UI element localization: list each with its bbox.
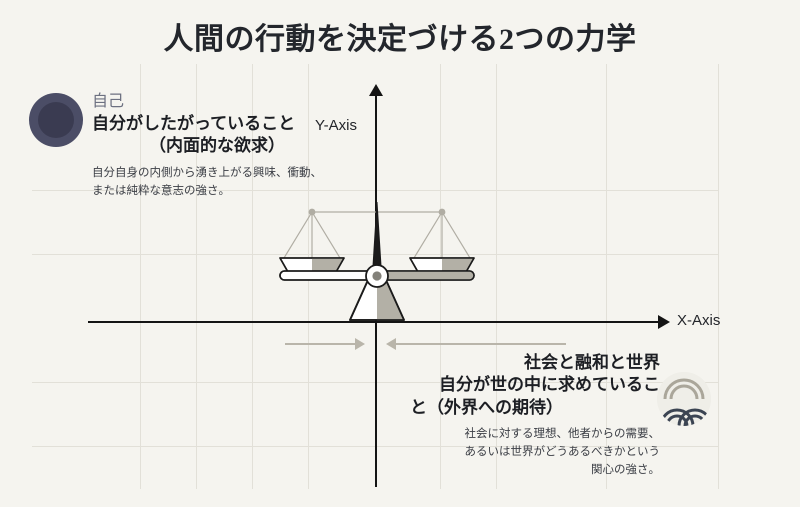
x-axis-arrowhead-icon — [658, 315, 670, 329]
inner-arrow-left-head-icon — [355, 338, 365, 350]
self-headline-line1: 自分がしたがっていること — [92, 113, 342, 135]
world-kicker: 社会と融和と世界 — [410, 352, 660, 374]
self-desc-line1: 自分自身の内側から湧き上がる興味、衝動、 — [92, 165, 342, 183]
world-text-block: 社会と融和と世界 自分が世の中に求めているこ と（外界への期待） 社会に対する理… — [410, 352, 660, 480]
self-text-block: 自己 自分がしたがっていること （内面的な欲求） 自分自身の内側から湧き上がる興… — [92, 92, 342, 201]
inner-arrow-right-shaft — [396, 343, 566, 345]
world-desc-line2: あるいは世界がどうあるべきかという — [410, 444, 660, 462]
inner-arrow-left-shaft — [285, 343, 355, 345]
inner-arrow-right-head-icon — [386, 338, 396, 350]
self-desc-line2: または純粋な意志の強さ。 — [92, 183, 342, 201]
self-sphere-inner — [38, 102, 74, 138]
self-headline-line2: （内面的な欲求） — [92, 135, 342, 157]
self-sphere-icon — [29, 93, 83, 147]
seigaiha-wave-icon — [657, 372, 711, 426]
y-axis-arrowhead-icon — [369, 84, 383, 96]
world-desc-line1: 社会に対する理想、他者からの需要、 — [410, 426, 660, 444]
infographic-canvas: 人間の行動を決定づける2つの力学 X-Axis Y-Axis — [0, 0, 800, 507]
x-axis-label: X-Axis — [677, 312, 720, 329]
world-desc-line3: 関心の強さ。 — [410, 462, 660, 480]
seigaiha-wave-svg — [657, 372, 711, 426]
world-headline-line2: と（外界への期待） — [410, 397, 660, 419]
grid-line-vertical — [718, 64, 719, 489]
balance-scale-svg — [262, 196, 492, 326]
world-headline-line1: 自分が世の中に求めているこ — [410, 374, 660, 396]
balance-scale-illustration — [262, 196, 492, 331]
self-kicker: 自己 — [92, 92, 342, 112]
page-title: 人間の行動を決定づける2つの力学 — [0, 14, 800, 58]
